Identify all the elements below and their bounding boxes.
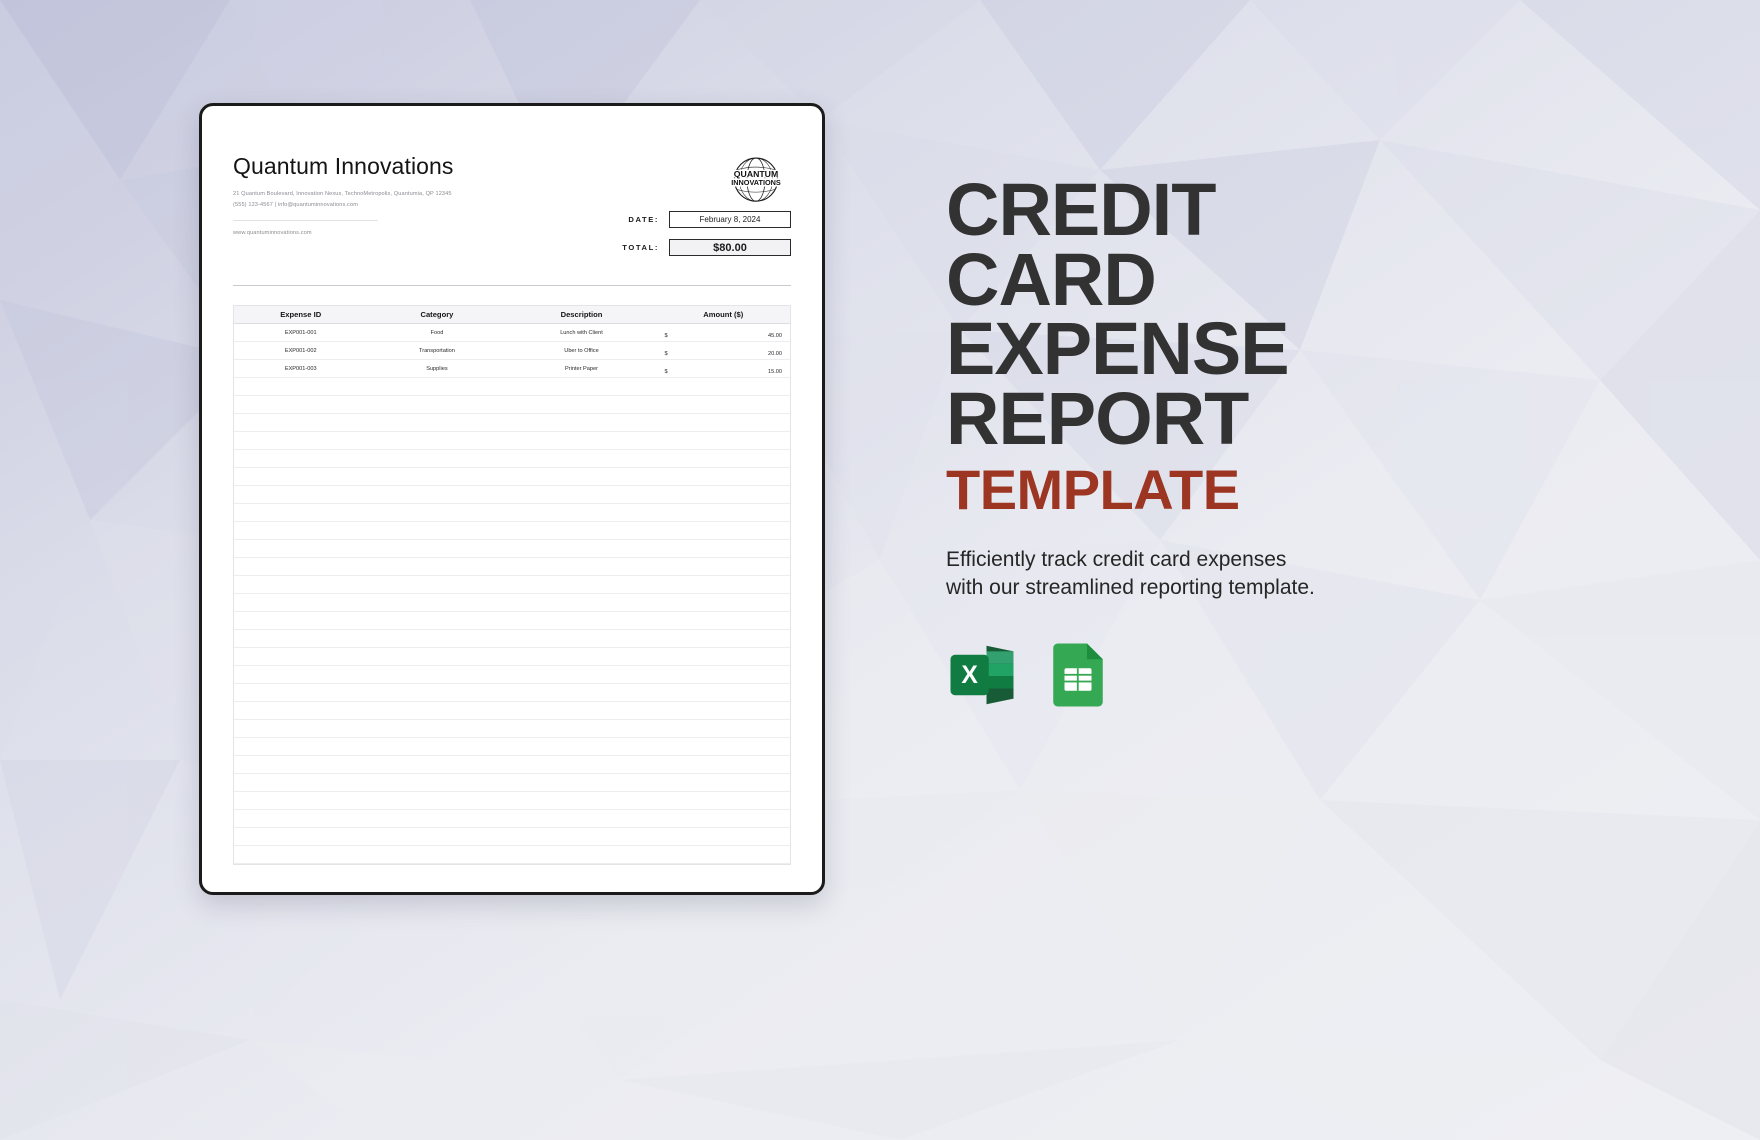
- table-empty-row[interactable]: [234, 594, 790, 612]
- table-empty-row[interactable]: [234, 378, 790, 396]
- promo-subtitle: TEMPLATE: [946, 461, 1376, 520]
- date-label: DATE:: [628, 215, 659, 224]
- column-header-description: Description: [506, 310, 656, 319]
- table-empty-row[interactable]: [234, 504, 790, 522]
- table-empty-row[interactable]: [234, 792, 790, 810]
- document-meta-fields: DATE: February 8, 2024 TOTAL: $80.00: [561, 211, 791, 267]
- table-empty-row[interactable]: [234, 774, 790, 792]
- table-empty-row[interactable]: [234, 540, 790, 558]
- table-empty-row[interactable]: [234, 522, 790, 540]
- cell-expense-id: EXP001-001: [234, 330, 367, 336]
- table-empty-row[interactable]: [234, 702, 790, 720]
- table-empty-row[interactable]: [234, 468, 790, 486]
- cell-category: Transportation: [367, 348, 506, 354]
- company-address-block: 21 Quantum Boulevard, Innovation Nexus, …: [233, 189, 454, 211]
- promo-panel: CREDIT CARD EXPENSE REPORT TEMPLATE Effi…: [946, 175, 1376, 711]
- cell-category: Food: [367, 330, 506, 336]
- company-logo: QUANTUM INNOVATIONS: [721, 149, 791, 213]
- table-empty-row[interactable]: [234, 756, 790, 774]
- header-divider: [233, 285, 791, 286]
- column-header-category: Category: [367, 310, 506, 319]
- table-empty-row[interactable]: [234, 450, 790, 468]
- table-row[interactable]: EXP001-002TransportationUber to Office$2…: [234, 342, 790, 360]
- table-empty-row[interactable]: [234, 720, 790, 738]
- table-row[interactable]: EXP001-003SuppliesPrinter Paper$15.00: [234, 360, 790, 378]
- table-empty-row[interactable]: [234, 576, 790, 594]
- table-empty-row[interactable]: [234, 846, 790, 864]
- promo-title-line-4: REPORT: [946, 384, 1376, 454]
- table-empty-row[interactable]: [234, 486, 790, 504]
- document-preview-frame[interactable]: Quantum Innovations 21 Quantum Boulevard…: [199, 103, 825, 895]
- promo-title-line-1: CREDIT: [946, 175, 1376, 245]
- date-row: DATE: February 8, 2024: [561, 211, 791, 228]
- globe-badge-logo-icon: QUANTUM INNOVATIONS: [721, 149, 791, 213]
- total-label: TOTAL:: [622, 243, 659, 252]
- table-body: EXP001-001FoodLunch with Client$45.00EXP…: [234, 324, 790, 378]
- excel-icon-letter: X: [961, 662, 978, 689]
- cell-amount-value: 20.00: [768, 351, 782, 357]
- table-empty-row[interactable]: [234, 738, 790, 756]
- cell-expense-id: EXP001-002: [234, 348, 367, 354]
- address-divider: [233, 220, 378, 221]
- table-empty-row[interactable]: [234, 828, 790, 846]
- company-website: www.quantuminnovations.com: [233, 230, 454, 236]
- logo-line1: QUANTUM: [734, 169, 778, 179]
- cell-currency: $: [665, 333, 668, 339]
- table-empty-row[interactable]: [234, 612, 790, 630]
- company-address-line: 21 Quantum Boulevard, Innovation Nexus, …: [233, 189, 454, 200]
- column-header-expense-id: Expense ID: [234, 310, 367, 319]
- google-sheets-icon[interactable]: [1042, 639, 1114, 711]
- table-empty-row[interactable]: [234, 648, 790, 666]
- column-header-amount: Amount ($): [657, 310, 790, 319]
- expense-table: Expense ID Category Description Amount (…: [233, 305, 791, 865]
- cell-currency: $: [665, 369, 668, 375]
- table-empty-row[interactable]: [234, 630, 790, 648]
- table-empty-row[interactable]: [234, 396, 790, 414]
- table-empty-row[interactable]: [234, 810, 790, 828]
- promo-title-line-2: CARD: [946, 245, 1376, 315]
- promo-title: CREDIT CARD EXPENSE REPORT: [946, 175, 1376, 453]
- document-page: Quantum Innovations 21 Quantum Boulevard…: [211, 115, 813, 883]
- cell-currency: $: [665, 351, 668, 357]
- date-field[interactable]: February 8, 2024: [669, 211, 791, 228]
- company-name: Quantum Innovations: [233, 153, 454, 180]
- format-icon-list: X: [946, 639, 1376, 711]
- total-row: TOTAL: $80.00: [561, 239, 791, 256]
- table-empty-row[interactable]: [234, 558, 790, 576]
- table-empty-row[interactable]: [234, 432, 790, 450]
- cell-expense-id: EXP001-003: [234, 366, 367, 372]
- cell-amount-value: 15.00: [768, 369, 782, 375]
- promo-description: Efficiently track credit card expenses w…: [946, 546, 1326, 601]
- table-header-row: Expense ID Category Description Amount (…: [234, 305, 790, 324]
- table-empty-row[interactable]: [234, 414, 790, 432]
- cell-description: Uber to Office: [506, 348, 656, 354]
- company-contact-line: (555) 123-4567 | info@quantuminnovations…: [233, 200, 454, 211]
- logo-line2: INNOVATIONS: [731, 178, 781, 187]
- cell-description: Lunch with Client: [506, 330, 656, 336]
- cell-amount-value: 45.00: [768, 333, 782, 339]
- cell-description: Printer Paper: [506, 366, 656, 372]
- table-empty-row[interactable]: [234, 666, 790, 684]
- table-row[interactable]: EXP001-001FoodLunch with Client$45.00: [234, 324, 790, 342]
- table-empty-rows: [234, 378, 790, 864]
- total-field[interactable]: $80.00: [669, 239, 791, 256]
- table-empty-row[interactable]: [234, 684, 790, 702]
- cell-category: Supplies: [367, 366, 506, 372]
- company-block: Quantum Innovations 21 Quantum Boulevard…: [233, 137, 454, 236]
- excel-icon[interactable]: X: [946, 639, 1018, 711]
- promo-title-line-3: EXPENSE: [946, 314, 1376, 384]
